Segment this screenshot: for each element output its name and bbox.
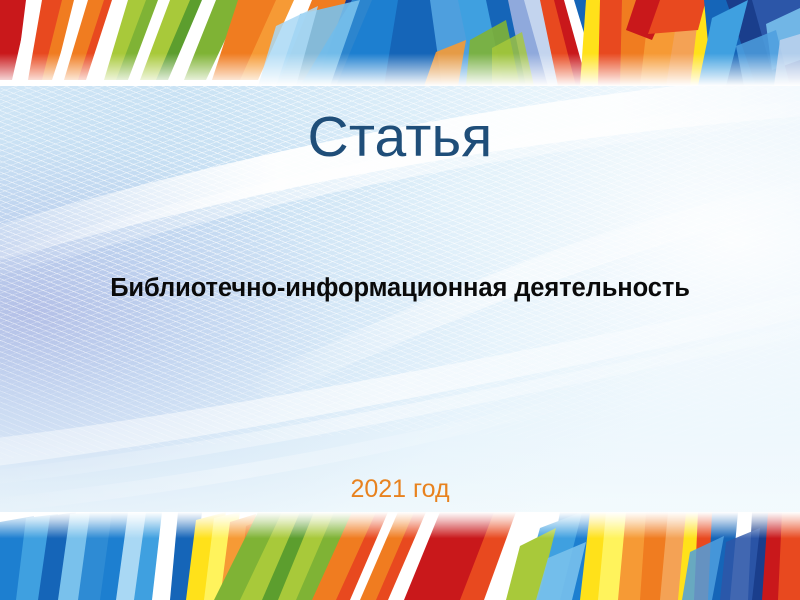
bottom-decorative-border: [0, 512, 800, 600]
slide-title: Статья: [0, 108, 800, 168]
slide-subtitle: Библиотечно-информационная деятельность: [0, 274, 800, 303]
top-border-shards: [0, 0, 800, 86]
bottom-border-shards: [0, 512, 800, 600]
background-mesh-hatch-primary: [0, 28, 800, 463]
top-decorative-border: [0, 0, 800, 86]
presentation-slide: Статья Библиотечно-информационная деятел…: [0, 0, 800, 600]
background-mesh-hatch-secondary: [0, 28, 800, 457]
slide-year: 2021 год: [0, 476, 800, 504]
